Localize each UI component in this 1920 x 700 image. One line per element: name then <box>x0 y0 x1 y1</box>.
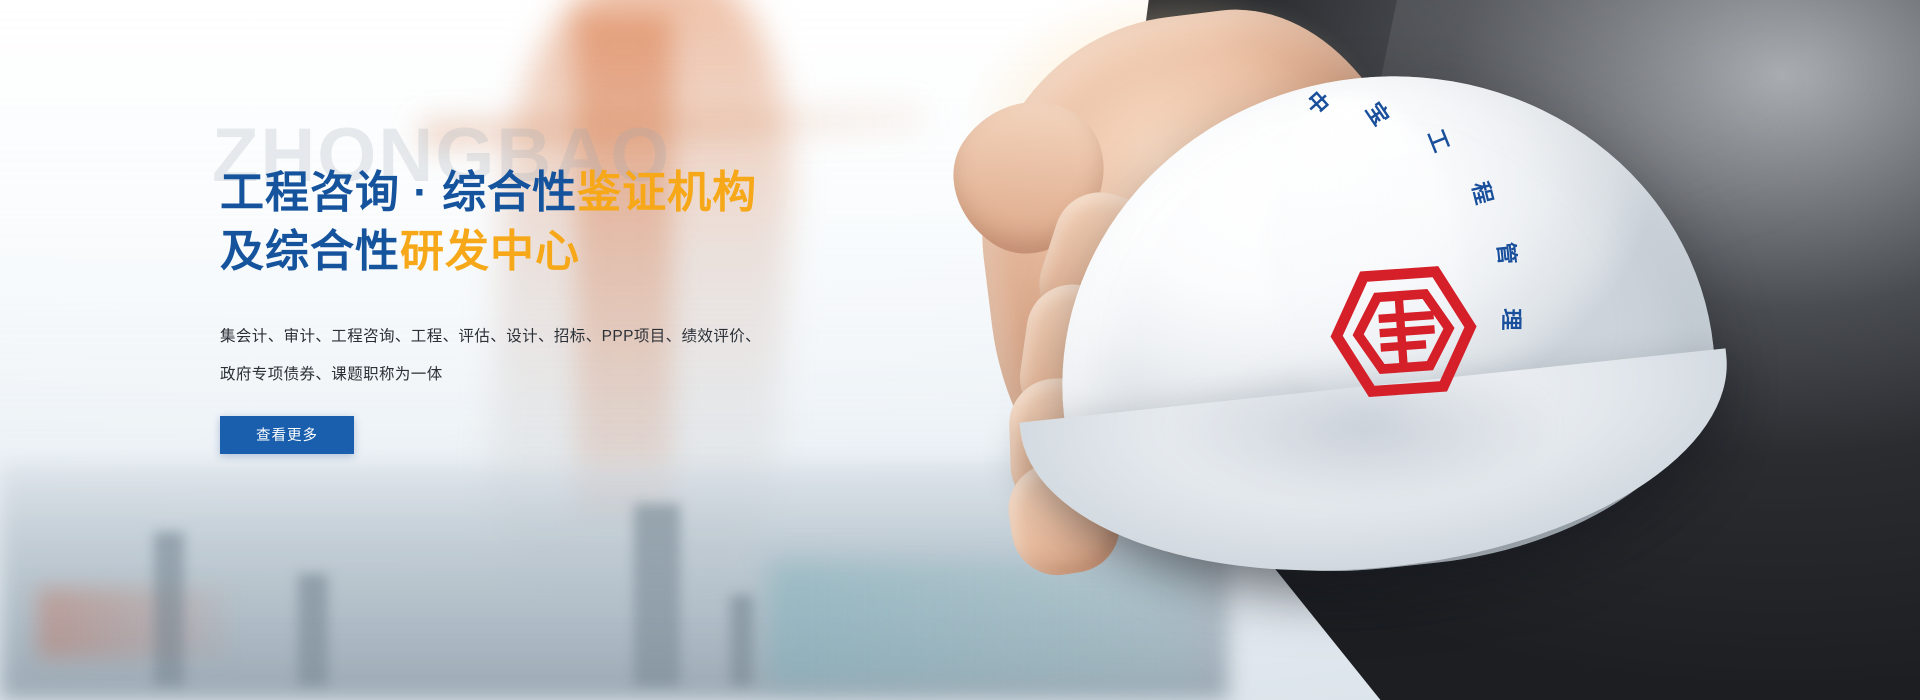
banner-content: ZHONGBAO 工程咨询 · 综合性鉴证机构 及综合性研发中心 集会计、审计、… <box>220 126 860 454</box>
background-post-c <box>634 504 680 686</box>
headline-line-1-blue: 工程咨询 · 综合性 <box>220 168 577 217</box>
background-ground-red <box>38 588 230 658</box>
background-ground-teal <box>768 560 1190 686</box>
headline-line-1-orange: 鉴证机构 <box>577 168 757 217</box>
hero-banner: 工 程 管 理 宝 中 ZHONGBAO 工程咨询 · 综合性鉴证机构 及综合性… <box>0 0 1920 700</box>
headline-line-1: 工程咨询 · 综合性鉴证机构 <box>220 164 860 223</box>
headline-line-2-blue: 及综合性 <box>220 227 400 276</box>
banner-headline: 工程咨询 · 综合性鉴证机构 及综合性研发中心 <box>220 126 860 282</box>
background-post-b <box>298 574 329 686</box>
helmet-brand-char-4: 理 <box>1499 308 1521 330</box>
helmet-brand-char-3: 管 <box>1493 241 1517 265</box>
banner-description: 集会计、审计、工程咨询、工程、评估、设计、招标、PPP项目、绩效评价、 政府专项… <box>220 318 800 394</box>
background-post-d <box>730 595 753 686</box>
background-post-a <box>154 532 185 686</box>
description-line-1: 集会计、审计、工程咨询、工程、评估、设计、招标、PPP项目、绩效评价、 <box>220 318 800 356</box>
view-more-button[interactable]: 查看更多 <box>220 416 354 454</box>
helmet-branding: 工 程 管 理 宝 中 <box>1267 188 1536 499</box>
headline-line-2: 及综合性研发中心 <box>220 223 860 282</box>
headline-line-2-orange: 研发中心 <box>400 227 580 276</box>
helmet-brand-char-2: 程 <box>1468 179 1495 206</box>
description-line-2: 政府专项债券、课题职称为一体 <box>220 356 800 394</box>
helmet-brand-text: 工 程 管 理 宝 中 <box>1224 138 1580 548</box>
